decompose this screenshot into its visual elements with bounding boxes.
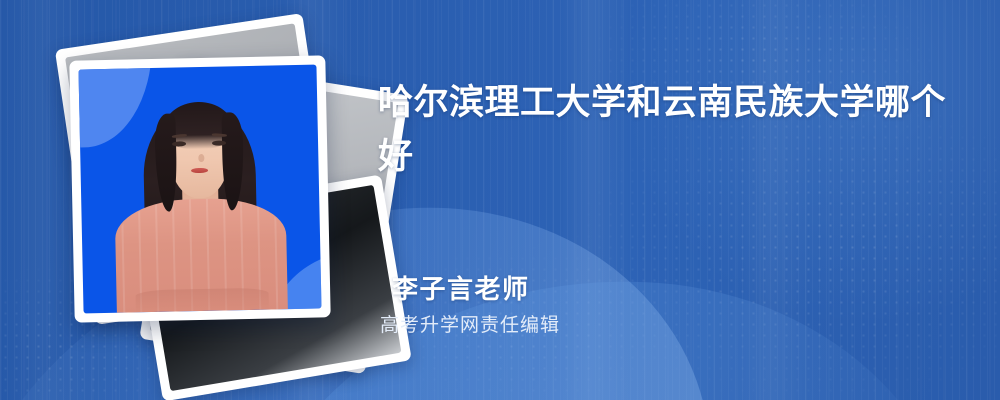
article-header-banner: 哈尔滨理工大学和云南民族大学哪个好 李子言老师 高考升学网责任编辑 [0,0,1000,400]
portrait-eye-left [172,141,185,146]
portrait-lips [191,167,208,173]
photo-card-stack [48,34,348,354]
portrait-nose [198,154,204,162]
author-role: 高考升学网责任编辑 [380,313,560,339]
portrait-eye-right [212,140,225,145]
author-block: 李子言老师 高考升学网责任编辑 [392,272,560,339]
banner-text-column: 哈尔滨理工大学和云南民族大学哪个好 李子言老师 高考升学网责任编辑 [378,0,978,400]
author-name: 李子言老师 [392,272,560,306]
portrait-dress-waist [135,288,269,313]
photo-card-front [69,55,330,322]
portrait-figure [78,65,321,314]
author-portrait-photo [78,65,321,314]
article-title: 哈尔滨理工大学和云南民族大学哪个好 [378,76,970,184]
